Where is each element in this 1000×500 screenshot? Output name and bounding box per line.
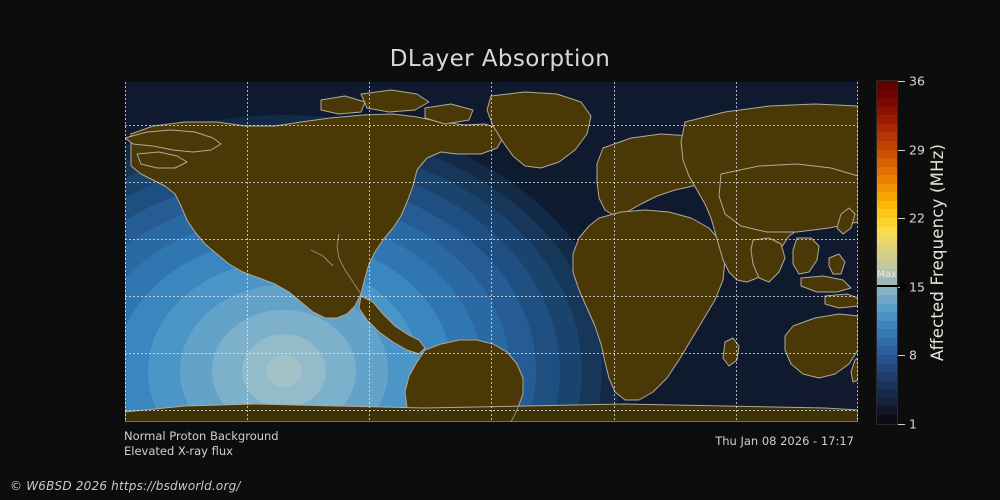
- dlayer-absorption-page: DLayer Absorption: [0, 0, 1000, 500]
- colorbar-band: [877, 98, 897, 107]
- colorbar-band: [877, 90, 897, 99]
- colorbar-band: [877, 184, 897, 193]
- colorbar-tick-label: 8: [909, 348, 917, 363]
- colorbar-band: [877, 218, 897, 227]
- colorbar-band: [877, 389, 897, 398]
- colorbar-band: [877, 364, 897, 373]
- colorbar-band: [877, 312, 897, 321]
- colorbar-band: [877, 124, 897, 133]
- world-map[interactable]: [125, 82, 858, 422]
- page-title: DLayer Absorption: [0, 46, 1000, 72]
- footer-credit: © W6BSD 2026 https://bsdworld.org/: [10, 479, 241, 493]
- colorbar-band: [877, 381, 897, 390]
- colorbar-tick-label: 36: [909, 74, 925, 89]
- colorbar-band: [877, 167, 897, 176]
- status-line-proton: Normal Proton Background: [124, 429, 279, 444]
- colorbar-band: [877, 287, 897, 296]
- colorbar-band: [877, 81, 897, 90]
- status-annotations: Normal Proton Background Elevated X-ray …: [124, 429, 279, 459]
- colorbar-band: [877, 338, 897, 347]
- colorbar-band: [877, 329, 897, 338]
- colorbar-band: [877, 261, 897, 270]
- colorbar-band: [877, 321, 897, 330]
- colorbar-band: [877, 252, 897, 261]
- colorbar-tick: [898, 424, 905, 425]
- timestamp: Thu Jan 08 2026 - 17:17: [715, 434, 854, 448]
- colorbar-tick-label: 29: [909, 142, 925, 157]
- colorbar-band: [877, 158, 897, 167]
- colorbar-band: [877, 406, 897, 415]
- colorbar-band: [877, 141, 897, 150]
- colorbar-band: [877, 209, 897, 218]
- colorbar-band: [877, 295, 897, 304]
- colorbar-tick-label: 15: [909, 279, 925, 294]
- colorbar-tick-label: 22: [909, 211, 925, 226]
- status-line-xray: Elevated X-ray flux: [124, 444, 279, 459]
- colorbar-band: [877, 244, 897, 253]
- map-canvas: [125, 82, 858, 422]
- colorbar-band: [877, 346, 897, 355]
- colorbar-tick: [898, 218, 905, 219]
- colorbar-band: [877, 132, 897, 141]
- colorbar-band: [877, 415, 897, 424]
- colorbar-band: [877, 227, 897, 236]
- colorbar-band: [877, 269, 897, 278]
- colorbar-band: [877, 115, 897, 124]
- colorbar-band: [877, 235, 897, 244]
- colorbar-band: [877, 278, 897, 287]
- colorbar-axis-label: Affected Frequency (MHz): [928, 80, 958, 425]
- colorbar-tick-label: 1: [909, 417, 917, 432]
- colorbar-band: [877, 372, 897, 381]
- colorbar-tick: [898, 150, 905, 151]
- colorbar-tick: [898, 287, 905, 288]
- colorbar-band: [877, 398, 897, 407]
- colorbar-band: [877, 175, 897, 184]
- colorbar-band: [877, 107, 897, 116]
- colorbar-band: [877, 150, 897, 159]
- colorbar[interactable]: [876, 80, 898, 425]
- colorbar-band: [877, 192, 897, 201]
- colorbar-tick: [898, 355, 905, 356]
- colorbar-band: [877, 304, 897, 313]
- colorbar-band: [877, 355, 897, 364]
- colorbar-tick: [898, 81, 905, 82]
- colorbar-band: [877, 201, 897, 210]
